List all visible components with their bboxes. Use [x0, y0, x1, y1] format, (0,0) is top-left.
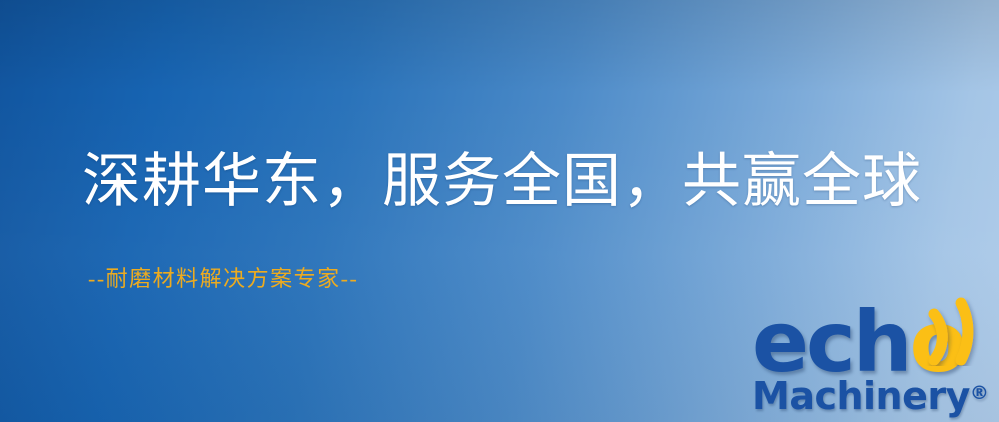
registered-trademark-icon: ®	[970, 382, 989, 404]
echo-waves-icon	[924, 294, 999, 366]
hero-banner: 深耕华东，服务全国，共赢全球 --耐磨材料解决方案专家-- echo Machi…	[0, 0, 999, 422]
banner-subtitle: --耐磨材料解决方案专家--	[88, 268, 358, 290]
logo-tagline: Machinery®	[752, 374, 989, 415]
banner-headline: 深耕华东，服务全国，共赢全球	[82, 152, 922, 211]
logo-tagline-text: Machinery	[752, 374, 970, 418]
echo-machinery-logo[interactable]: echo Machinery®	[748, 298, 999, 422]
